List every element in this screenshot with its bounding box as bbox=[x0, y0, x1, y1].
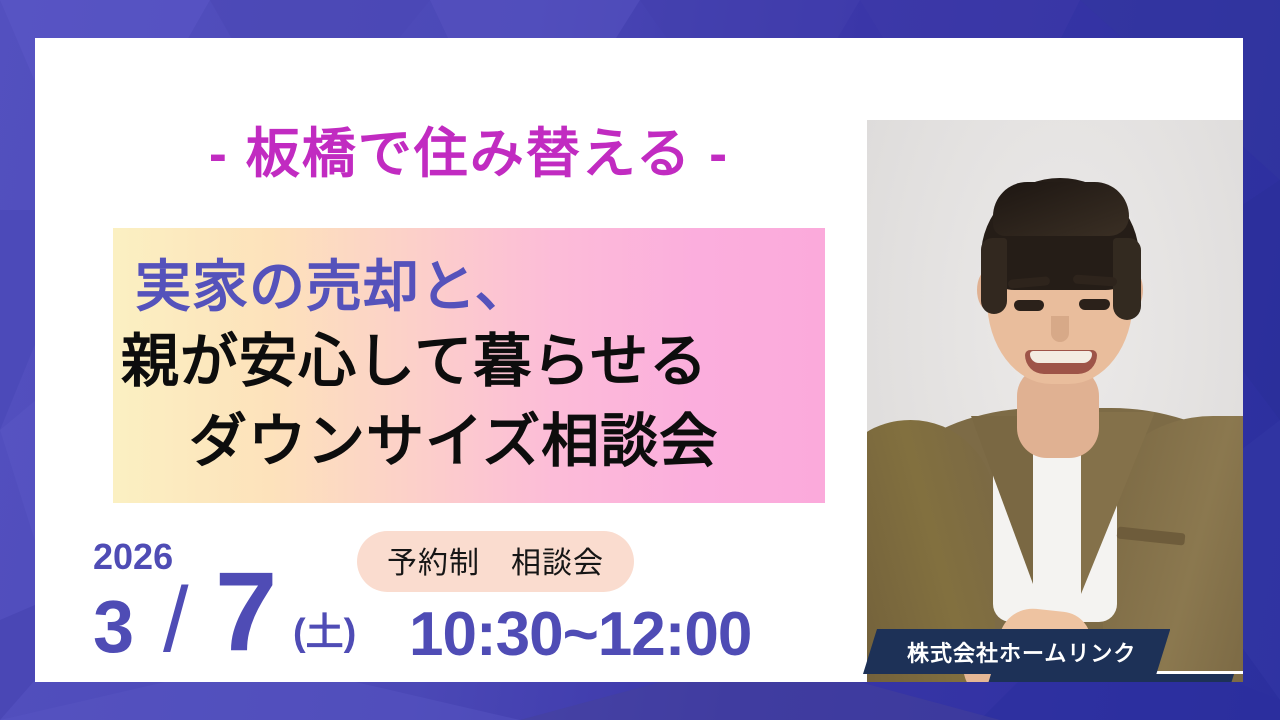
eye-left bbox=[1014, 300, 1044, 311]
hair-side-left bbox=[981, 238, 1007, 314]
eye-right bbox=[1079, 299, 1110, 310]
banner-stage: - 板橋で住み替える - 実家の売却と、 親が安心して暮らせる ダウンサイズ相談… bbox=[0, 0, 1280, 720]
speaker-company-label: 株式会社ホームリンク bbox=[907, 636, 1136, 668]
title-line-1: 実家の売却と、 bbox=[135, 242, 532, 323]
kicker-headline: - 板橋で住み替える - bbox=[113, 126, 825, 183]
event-day: 7 bbox=[215, 556, 277, 668]
event-day-of-week: (土) bbox=[293, 614, 356, 652]
speaker-photo bbox=[867, 120, 1243, 682]
title-panel: 実家の売却と、 親が安心して暮らせる ダウンサイズ相談会 bbox=[113, 228, 825, 503]
date-separator: / bbox=[163, 574, 189, 666]
hair-side-right bbox=[1113, 238, 1141, 320]
speaker-name-label: 守屋 光繕 bbox=[1019, 677, 1194, 682]
title-line-3: ダウンサイズ相談会 bbox=[189, 394, 718, 478]
event-month: 3 bbox=[93, 590, 134, 664]
teeth bbox=[1030, 351, 1092, 363]
title-line-2: 親が安心して暮らせる bbox=[121, 314, 708, 398]
speaker-name-plate: 守屋 光繕 bbox=[975, 674, 1234, 682]
nose bbox=[1051, 316, 1069, 342]
event-time: 10:30~12:00 bbox=[409, 604, 751, 666]
event-year: 2026 bbox=[93, 536, 173, 578]
hair-fringe bbox=[993, 182, 1129, 236]
reservation-badge: 予約制 相談会 bbox=[357, 531, 634, 592]
banner-card: - 板橋で住み替える - 実家の売却と、 親が安心して暮らせる ダウンサイズ相談… bbox=[35, 38, 1243, 682]
speaker-company-plate: 株式会社ホームリンク bbox=[863, 629, 1170, 674]
